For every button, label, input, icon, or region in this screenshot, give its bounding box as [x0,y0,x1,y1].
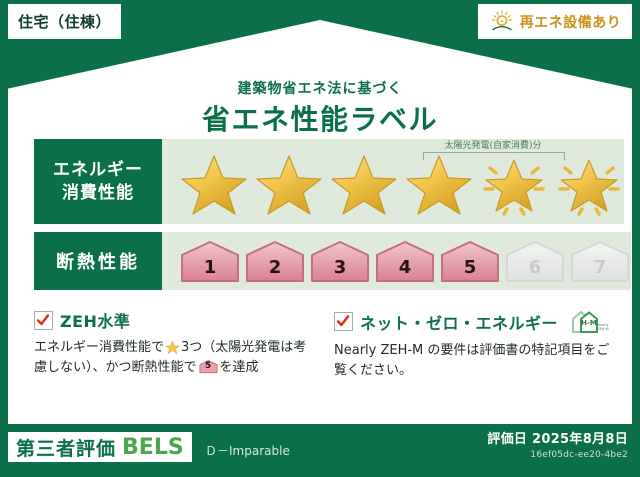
insulation-level-3: 3 [309,239,371,283]
checkbox-net-zero[interactable] [334,312,353,331]
star-icon [179,151,249,217]
criteria-zeh: ZEH水準 エネルギー消費性能で3つ（太陽光発電は考慮しない）、かつ断熱性能で5… [34,308,316,378]
checkbox-zeh[interactable] [34,311,53,330]
insulation-level-4-number: 4 [374,257,436,278]
row-insulation-body: 1 2 3 4 [162,232,631,290]
insulation-level-2: 2 [244,239,306,283]
footer-bar: 第三者評価 BELS Ｄ－Imparable 評価日 2025年8月8日 16e… [0,424,640,477]
row-energy-label: エネルギー 消費性能 [34,139,162,224]
label-uuid: 16ef05dc-ee20-4be2 [487,450,628,460]
star-icon [329,151,399,217]
evaluation-date: 評価日 2025年8月8日 [487,428,628,447]
insulation-level-scale: 1 2 3 4 [162,239,631,283]
bels-badge-en-label: BELS [122,435,184,460]
house-icon-inline: 5 [199,359,218,374]
row-energy-label-line1: エネルギー [53,159,143,182]
row-insulation-label: 断熱性能 [34,232,162,290]
criteria-zeh-header: ZEH水準 [34,308,316,332]
solar-annotation-label: 太陽光発電(自家消費)分 [413,138,573,151]
badge-building-type-label: 住宅（住棟） [18,11,111,32]
criteria-zeh-text-1: エネルギー消費性能で [34,340,164,355]
row-energy-body: 太陽光発電(自家消費)分 [162,139,624,224]
bels-code-text: Ｄ－Imparable [205,442,290,459]
star-icon-inline [165,340,180,355]
label-panel: 建築物省エネ法に基づく 省エネ性能ラベル エネルギー 消費性能 太陽光発電(自家… [8,20,632,424]
criteria-zeh-title: ZEH水準 [60,308,130,332]
criteria-net-zero-title: ネット・ゼロ・エネルギー [360,310,558,334]
insulation-level-6-number: 6 [504,257,566,278]
energy-performance-label: 住宅（住棟） 再エネ設備あり 建築物省エネ [0,0,640,477]
star-icon [254,151,324,217]
title-subtitle: 建築物省エネ法に基づく [8,78,632,98]
evaluation-date-label: 評価日 [487,432,527,447]
house-icon-inline-number: 5 [199,360,218,374]
insulation-level-2-number: 2 [244,257,306,278]
criteria-zeh-text-3: を達成 [220,360,259,375]
star-icon [404,151,474,217]
page-title: 省エネ性能ラベル [8,98,632,138]
sun-icon [489,10,515,34]
criteria-net-zero-body: Nearly ZEH-M の要件は評価書の特記項目をご覧ください。 [334,341,616,381]
svg-text:H-M: H-M [581,319,597,327]
row-insulation-performance: 断熱性能 1 2 [34,232,606,290]
insulation-level-7-number: 7 [569,257,631,278]
insulation-level-1: 1 [179,239,241,283]
insulation-level-7: 7 [569,239,631,283]
insulation-level-6: 6 [504,239,566,283]
svg-text:ZEH-M: ZEH-M [597,327,608,331]
insulation-level-5: 5 [439,239,501,283]
badge-renewable-label: 再エネ設備あり [520,12,622,32]
bels-badge: 第三者評価 BELS [8,432,192,462]
row-energy-label-line2: 消費性能 [62,182,134,205]
criteria-net-zero: ネット・ゼロ・エネルギー H-M Nearly ZEH-M Nearly ZEH… [334,308,616,381]
badge-renewable-equipment: 再エネ設備あり [478,4,632,39]
insulation-level-3-number: 3 [309,257,371,278]
evaluation-date-block: 評価日 2025年8月8日 16ef05dc-ee20-4be2 [487,428,628,460]
zeh-m-logo-icon: H-M Nearly ZEH-M [565,308,609,335]
insulation-level-1-number: 1 [179,257,241,278]
row-insulation-label-text: 断熱性能 [56,248,140,274]
star-icon-solar [554,151,624,217]
insulation-level-4: 4 [374,239,436,283]
star-rating [162,151,624,217]
criteria-zeh-body: エネルギー消費性能で3つ（太陽光発電は考慮しない）、かつ断熱性能で5を達成 [34,338,316,378]
row-energy-performance: エネルギー 消費性能 太陽光発電(自家消費)分 [34,139,606,224]
bels-badge-jp-label: 第三者評価 [16,434,116,461]
star-icon-solar [479,151,549,217]
criteria-net-zero-header: ネット・ゼロ・エネルギー H-M Nearly ZEH-M [334,308,616,335]
insulation-level-5-number: 5 [439,257,501,278]
badge-building-type: 住宅（住棟） [8,4,121,39]
evaluation-date-value: 2025年8月8日 [532,432,628,447]
